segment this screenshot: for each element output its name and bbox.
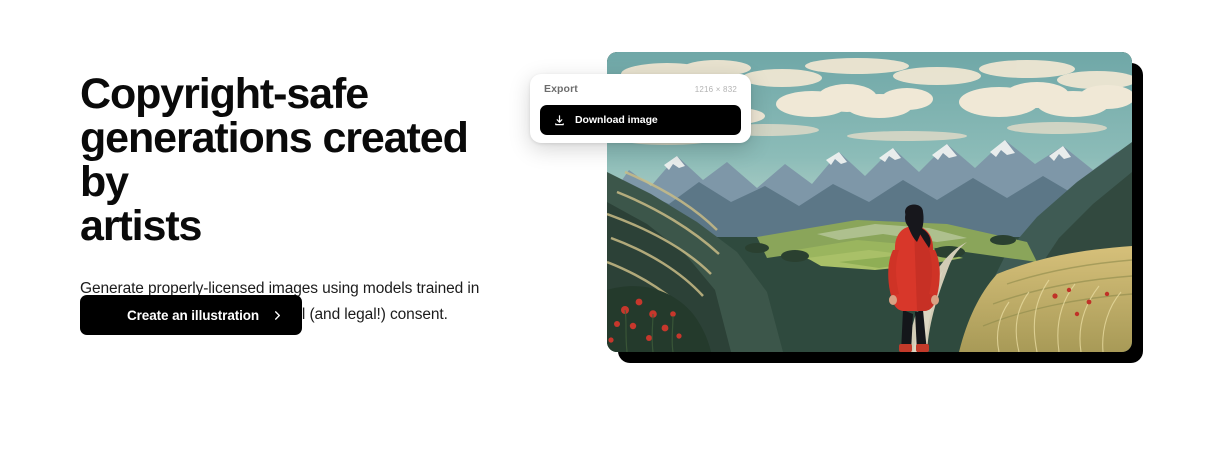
hero-section: Copyright-safe generations created by ar… [0, 0, 1224, 452]
page-title: Copyright-safe generations created by ar… [80, 72, 510, 248]
cta-label: Create an illustration [127, 308, 259, 323]
create-an-illustration-button[interactable]: Create an illustration [80, 295, 302, 335]
export-panel: Export 1216 × 832 Download image [530, 74, 751, 143]
chevron-right-icon [273, 311, 282, 320]
download-icon [553, 114, 566, 127]
export-panel-header: Export 1216 × 832 [540, 83, 741, 98]
artwork-container: Export 1216 × 832 Download image [607, 52, 1132, 352]
golden-grass-slope [959, 246, 1132, 352]
export-dimensions-label: 1216 × 832 [695, 85, 737, 94]
export-panel-title: Export [544, 83, 578, 95]
download-image-button[interactable]: Download image [540, 105, 741, 135]
hero-copy-block: Copyright-safe generations created by ar… [80, 72, 510, 328]
download-button-label: Download image [575, 114, 658, 126]
